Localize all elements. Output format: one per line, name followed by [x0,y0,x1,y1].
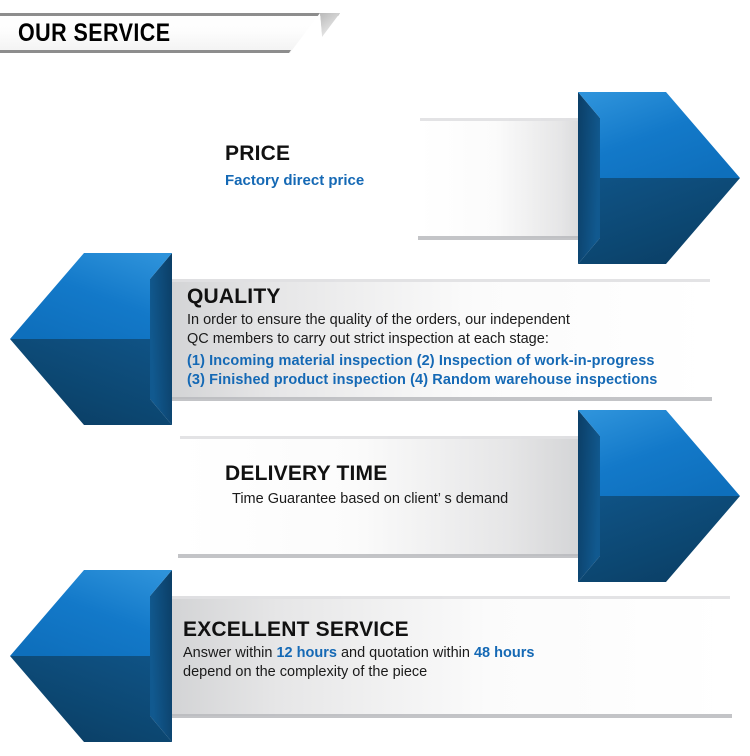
highlight-text: 48 hours [474,645,534,661]
section-line-rich: Answer within 12 hours and quotation wit… [183,645,534,661]
section-line: Time Guarantee based on client’ s demand [232,491,508,507]
section-line: Factory direct price [225,172,364,189]
header-title: OUR SERVICE [18,13,170,53]
section-line: In order to ensure the quality of the or… [187,312,570,328]
poster-canvas: OUR SERVICE [0,0,750,756]
section-line: (1) Incoming material inspection (2) Ins… [187,353,655,369]
section-heading: DELIVERY TIME [225,462,387,486]
section-heading: EXCELLENT SERVICE [183,618,409,642]
header-banner: OUR SERVICE [0,13,340,53]
plain-text: Answer within [183,645,276,661]
section-excellent-service: EXCELLENT SERVICE Answer within 12 hours… [0,560,750,750]
section-line: depend on the complexity of the piece [183,664,427,680]
section-heading: PRICE [225,142,290,166]
plain-text: and quotation within [337,645,474,661]
section-line: QC members to carry out strict inspectio… [187,331,549,347]
highlight-text: 12 hours [276,645,336,661]
section-line: (3) Finished product inspection (4) Rand… [187,372,657,388]
section-heading: QUALITY [187,285,281,309]
